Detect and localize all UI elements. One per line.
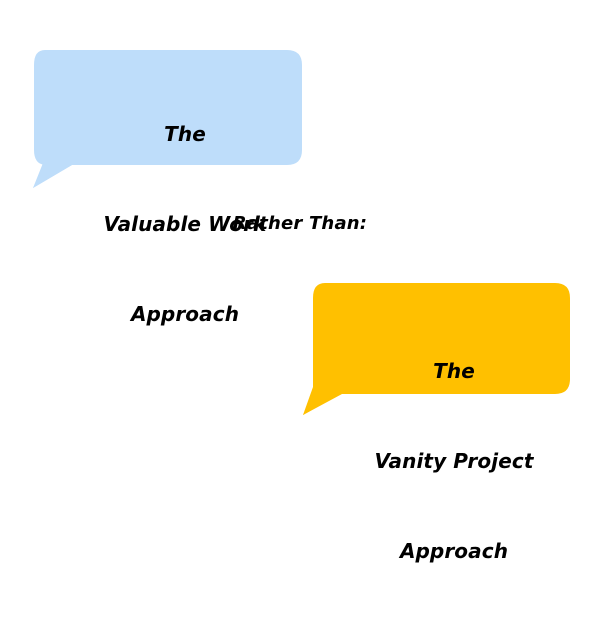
- speech-bubble-valuable-work[interactable]: The Valuable Work Approach: [30, 46, 306, 192]
- bubble-line: Approach: [47, 299, 323, 329]
- bubble-line: Approach: [316, 536, 592, 566]
- speech-bubble-blue-shape: [30, 46, 306, 192]
- speech-bubble-orange-shape: [298, 279, 574, 421]
- slide-canvas: The Valuable Work Approach Rather Than: …: [0, 0, 600, 450]
- bubble-line: Vanity Project: [316, 446, 592, 476]
- speech-bubble-vanity-project[interactable]: The Vanity Project Approach: [298, 279, 574, 421]
- caption-rather-than: Rather Than:: [0, 213, 600, 234]
